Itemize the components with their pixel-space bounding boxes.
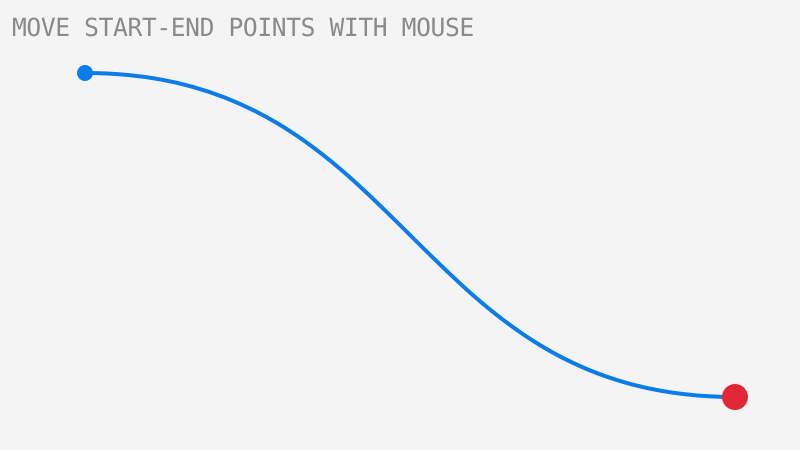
end-point-handle[interactable]	[722, 384, 748, 410]
start-point-handle[interactable]	[77, 65, 93, 81]
bezier-curve-path	[85, 73, 735, 397]
bezier-canvas[interactable]: MOVE START-END POINTS WITH MOUSE	[0, 0, 800, 450]
bezier-curve-svg	[0, 0, 800, 450]
